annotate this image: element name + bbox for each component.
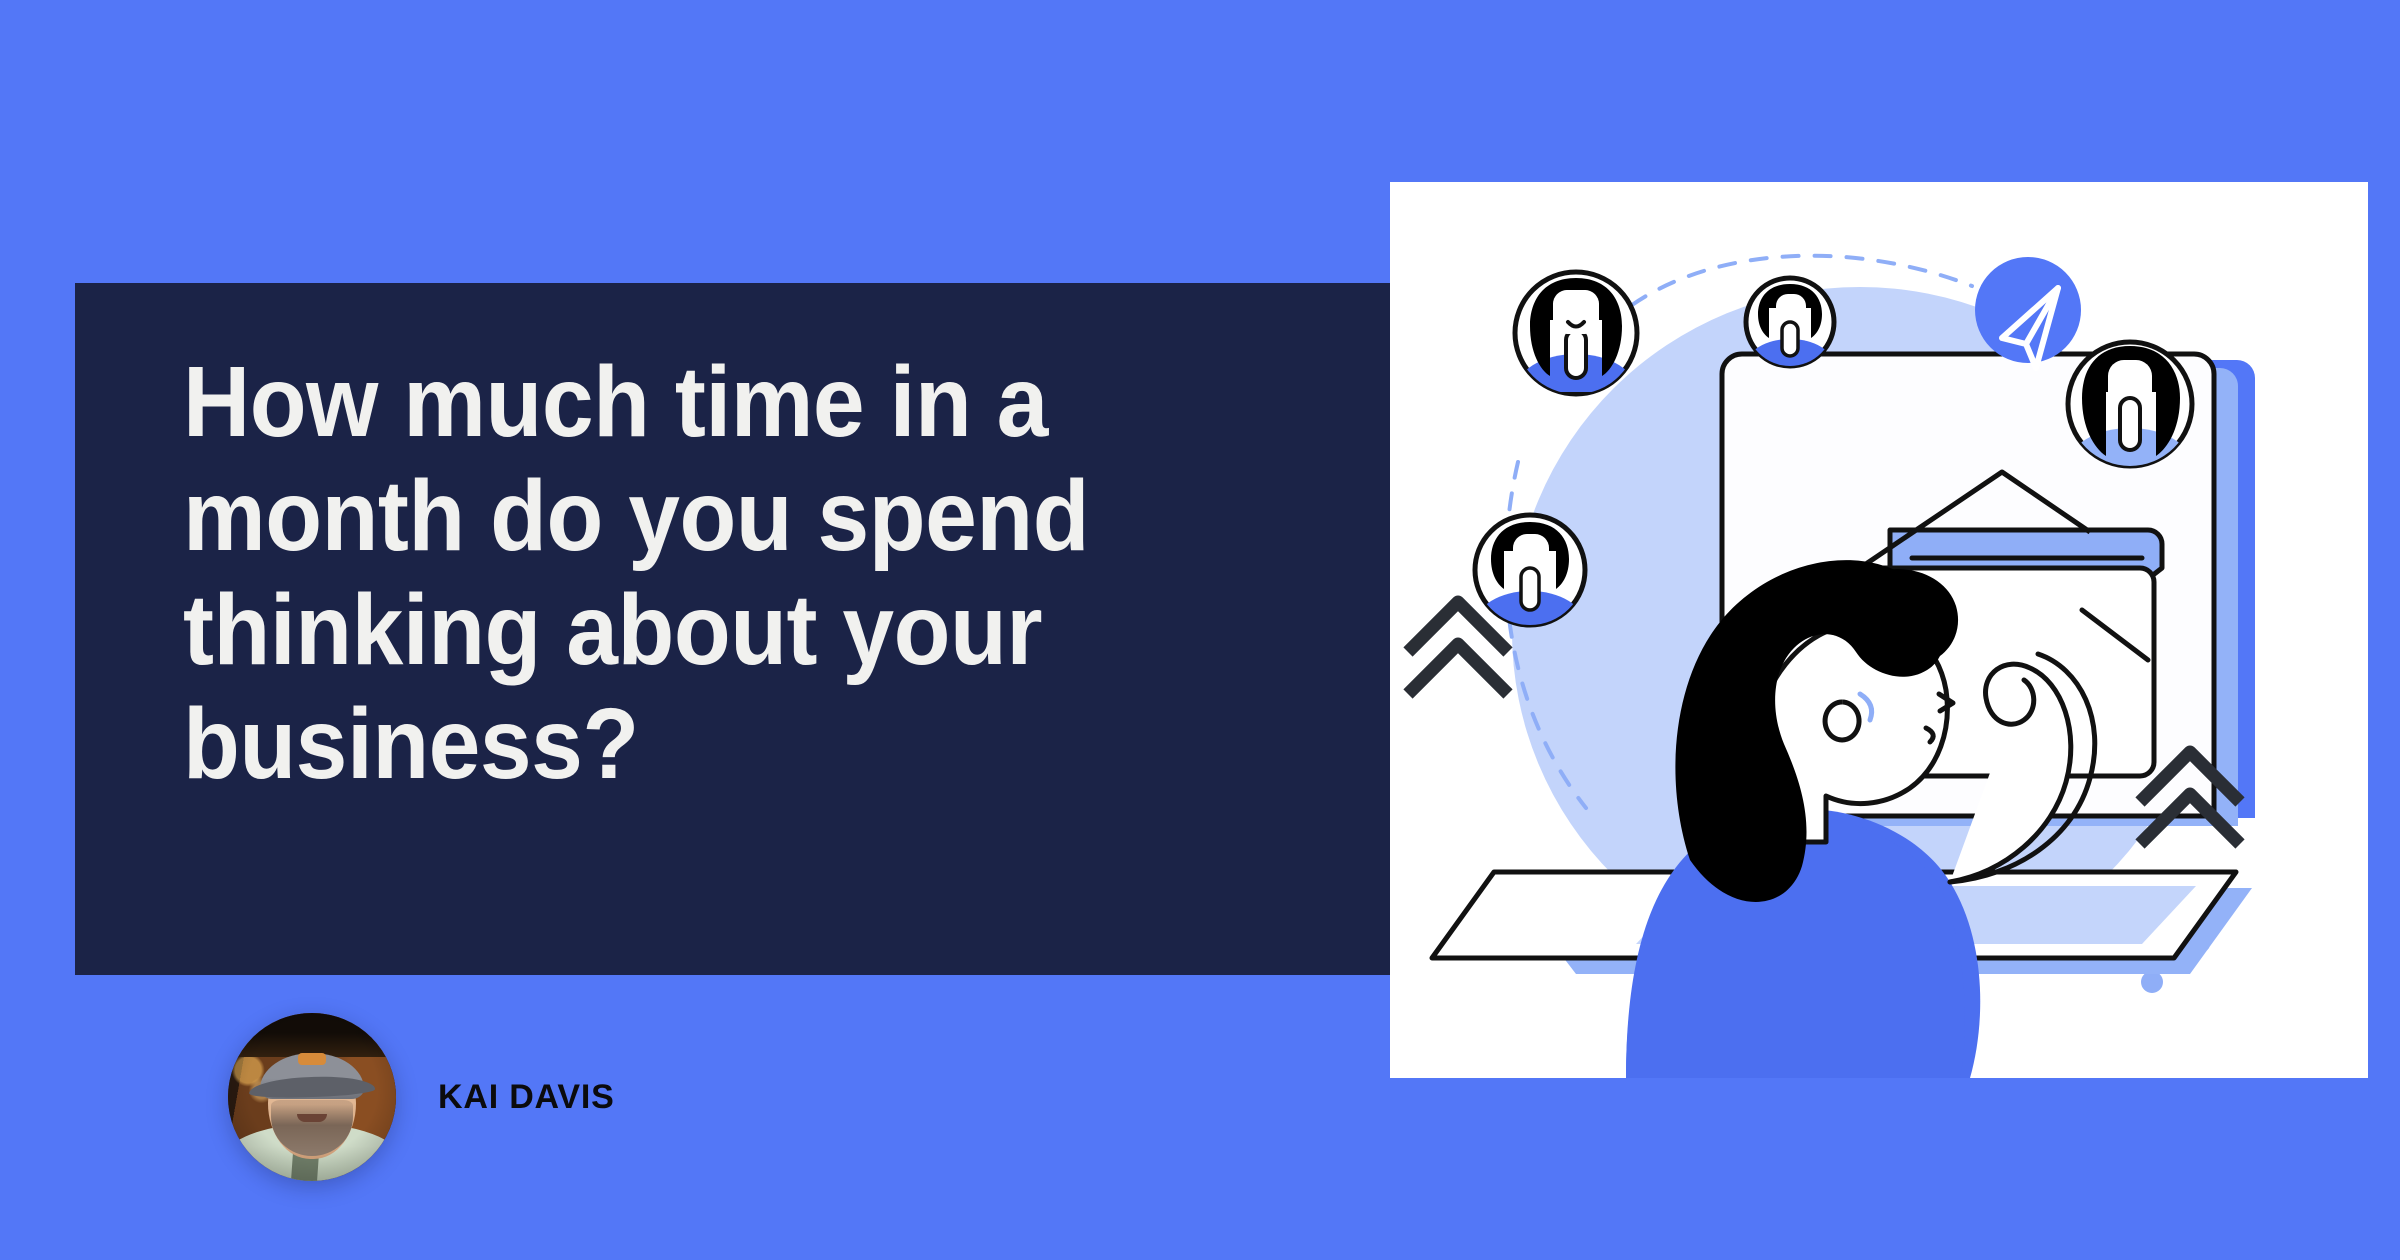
contact-avatar-2 bbox=[1746, 278, 1834, 366]
avatar bbox=[228, 1013, 396, 1181]
slide-canvas: How much time in a month do you spend th… bbox=[0, 0, 2400, 1260]
email-newsletter-illustration bbox=[1390, 182, 2368, 1078]
contact-avatar-1 bbox=[1515, 272, 1637, 394]
contact-avatar-3 bbox=[2068, 342, 2192, 466]
author-row: KAI DAVIS bbox=[228, 1013, 615, 1181]
contact-avatar-4 bbox=[1475, 515, 1585, 625]
illustration-panel bbox=[1390, 182, 2368, 1078]
avatar-vignette bbox=[228, 1013, 396, 1181]
chevron-arrows-left bbox=[1408, 602, 1508, 694]
page-title: How much time in a month do you spend th… bbox=[183, 345, 1225, 801]
headline-card: How much time in a month do you spend th… bbox=[75, 283, 1390, 975]
author-name: KAI DAVIS bbox=[438, 1078, 615, 1117]
